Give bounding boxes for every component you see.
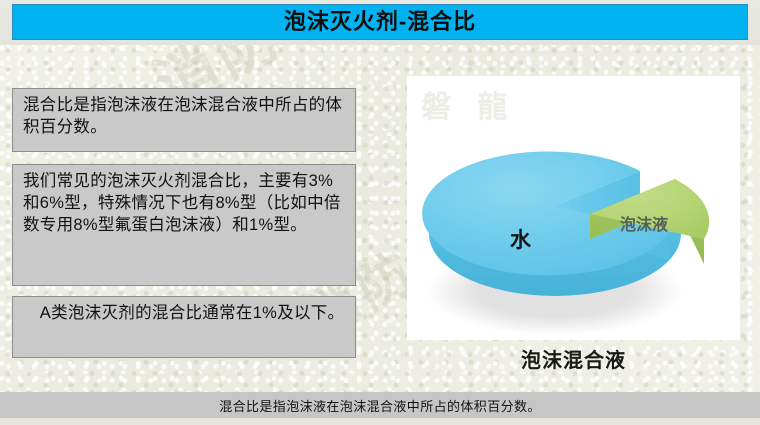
content-box-common-ratios: 我们常见的泡沫灭火剂混合比，主要有3%和6%型，特殊情况下也有8%型（比如中倍数… (12, 164, 356, 286)
slide-canvas: 消防 消防 泡沫灭火剂-混合比 混合比是指泡沫液在泡沫混合液中所占的体积百分数。… (0, 0, 760, 425)
pie-label-water: 水 (510, 224, 531, 254)
page-title: 泡沫灭火剂-混合比 (284, 11, 476, 33)
subtitle-text: 混合比是指泡沫液在泡沫混合液中所占的体积百分数。 (219, 396, 541, 415)
chart-caption: 泡沫混合液 (407, 344, 740, 373)
slide-title-bar: 泡沫灭火剂-混合比 (12, 4, 748, 40)
content-box-definition: 混合比是指泡沫液在泡沫混合液中所占的体积百分数。 (12, 88, 356, 152)
pie-chart-panel: 磐 龍 (407, 76, 740, 340)
subtitle-bar: 混合比是指泡沫液在泡沫混合液中所占的体积百分数。 (0, 392, 760, 418)
header-strip: 泡沫灭火剂-混合比 (0, 0, 760, 45)
pie-chart-svg (407, 76, 740, 340)
content-box-class-a: A类泡沫灭剂的混合比通常在1%及以下。 (12, 296, 356, 358)
pie-chart-graphic: 水 泡沫液 (407, 76, 740, 340)
bottom-filler (0, 418, 760, 425)
pie-label-foam: 泡沫液 (620, 211, 668, 235)
